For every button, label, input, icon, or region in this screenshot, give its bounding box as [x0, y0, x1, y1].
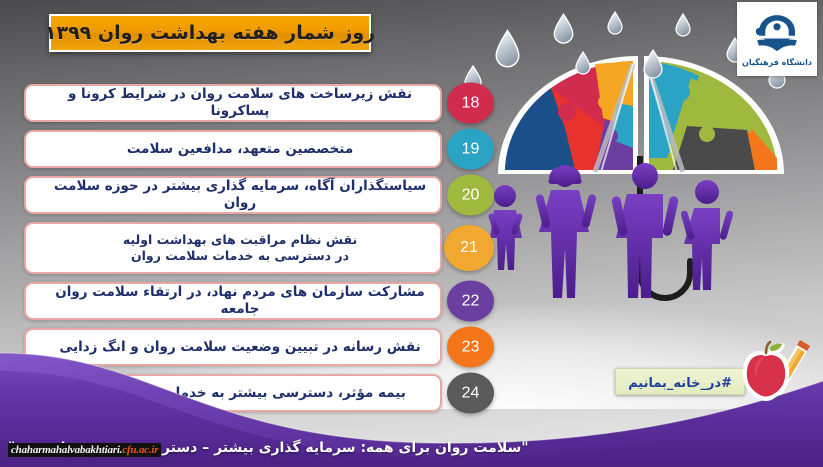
watermark-suffix: cfu.ac.ir	[122, 444, 158, 456]
day-number-badge: 18	[447, 83, 494, 124]
list-item[interactable]: مشارکت سازمان های مردم نهاد، در ارتقاء س…	[24, 282, 494, 320]
list-item[interactable]: متخصصین متعهد، مدافعین سلامت 19	[24, 130, 494, 168]
day-pill[interactable]: نقش زیرساخت های سلامت روان در شرایط کرون…	[24, 84, 442, 122]
family-silhouette	[488, 163, 734, 298]
day-number-badge: 20	[447, 175, 494, 216]
page-title-text: روز شمار هفته بهداشت روان ۱۳۹۹	[45, 22, 375, 44]
hashtag-badge[interactable]: #در_خانه_بمانیم	[615, 368, 745, 395]
day-pill[interactable]: سیاستگذاران آگاه، سرمایه گذاری بیشتر در …	[24, 176, 442, 214]
day-text: سیاستگذاران آگاه، سرمایه گذاری بیشتر در …	[26, 178, 440, 212]
list-item[interactable]: سیاستگذاران آگاه، سرمایه گذاری بیشتر در …	[24, 176, 494, 214]
day-text: نقش زیرساخت های سلامت روان در شرایط کرون…	[26, 86, 440, 120]
page-title: روز شمار هفته بهداشت روان ۱۳۹۹	[49, 14, 371, 52]
apple-pencil-artwork	[735, 333, 813, 405]
day-pill[interactable]: متخصصین متعهد، مدافعین سلامت	[24, 130, 442, 168]
logo-label: دانشگاه فرهنگیان	[742, 58, 812, 67]
infographic-canvas: دانشگاه فرهنگیان روز شمار هفته بهداشت رو…	[0, 0, 823, 467]
day-number-badge: 22	[447, 281, 494, 322]
list-item[interactable]: نقش زیرساخت های سلامت روان در شرایط کرون…	[24, 84, 494, 122]
watermark-prefix: chaharmahalvabakhtiari.	[11, 444, 122, 456]
list-item[interactable]: نقش نظام مراقبت های بهداشت اولیه در دستر…	[24, 222, 494, 274]
day-text: متخصصین متعهد، مدافعین سلامت	[101, 141, 365, 158]
hashtag-label: #در_خانه_بمانیم	[628, 376, 732, 391]
day-number-badge: 19	[447, 129, 494, 170]
site-watermark: chaharmahalvabakhtiari.cfu.ac.ir	[8, 443, 161, 457]
day-pill[interactable]: نقش نظام مراقبت های بهداشت اولیه در دستر…	[24, 222, 442, 274]
university-logo: دانشگاه فرهنگیان	[737, 2, 817, 76]
day-text: نقش نظام مراقبت های بهداشت اولیه در دستر…	[97, 232, 369, 263]
day-text: مشارکت سازمان های مردم نهاد، در ارتقاء س…	[26, 284, 440, 318]
farhangian-university-emblem-icon	[750, 11, 804, 57]
day-number-badge: 21	[444, 225, 494, 271]
day-pill[interactable]: مشارکت سازمان های مردم نهاد، در ارتقاء س…	[24, 282, 442, 320]
